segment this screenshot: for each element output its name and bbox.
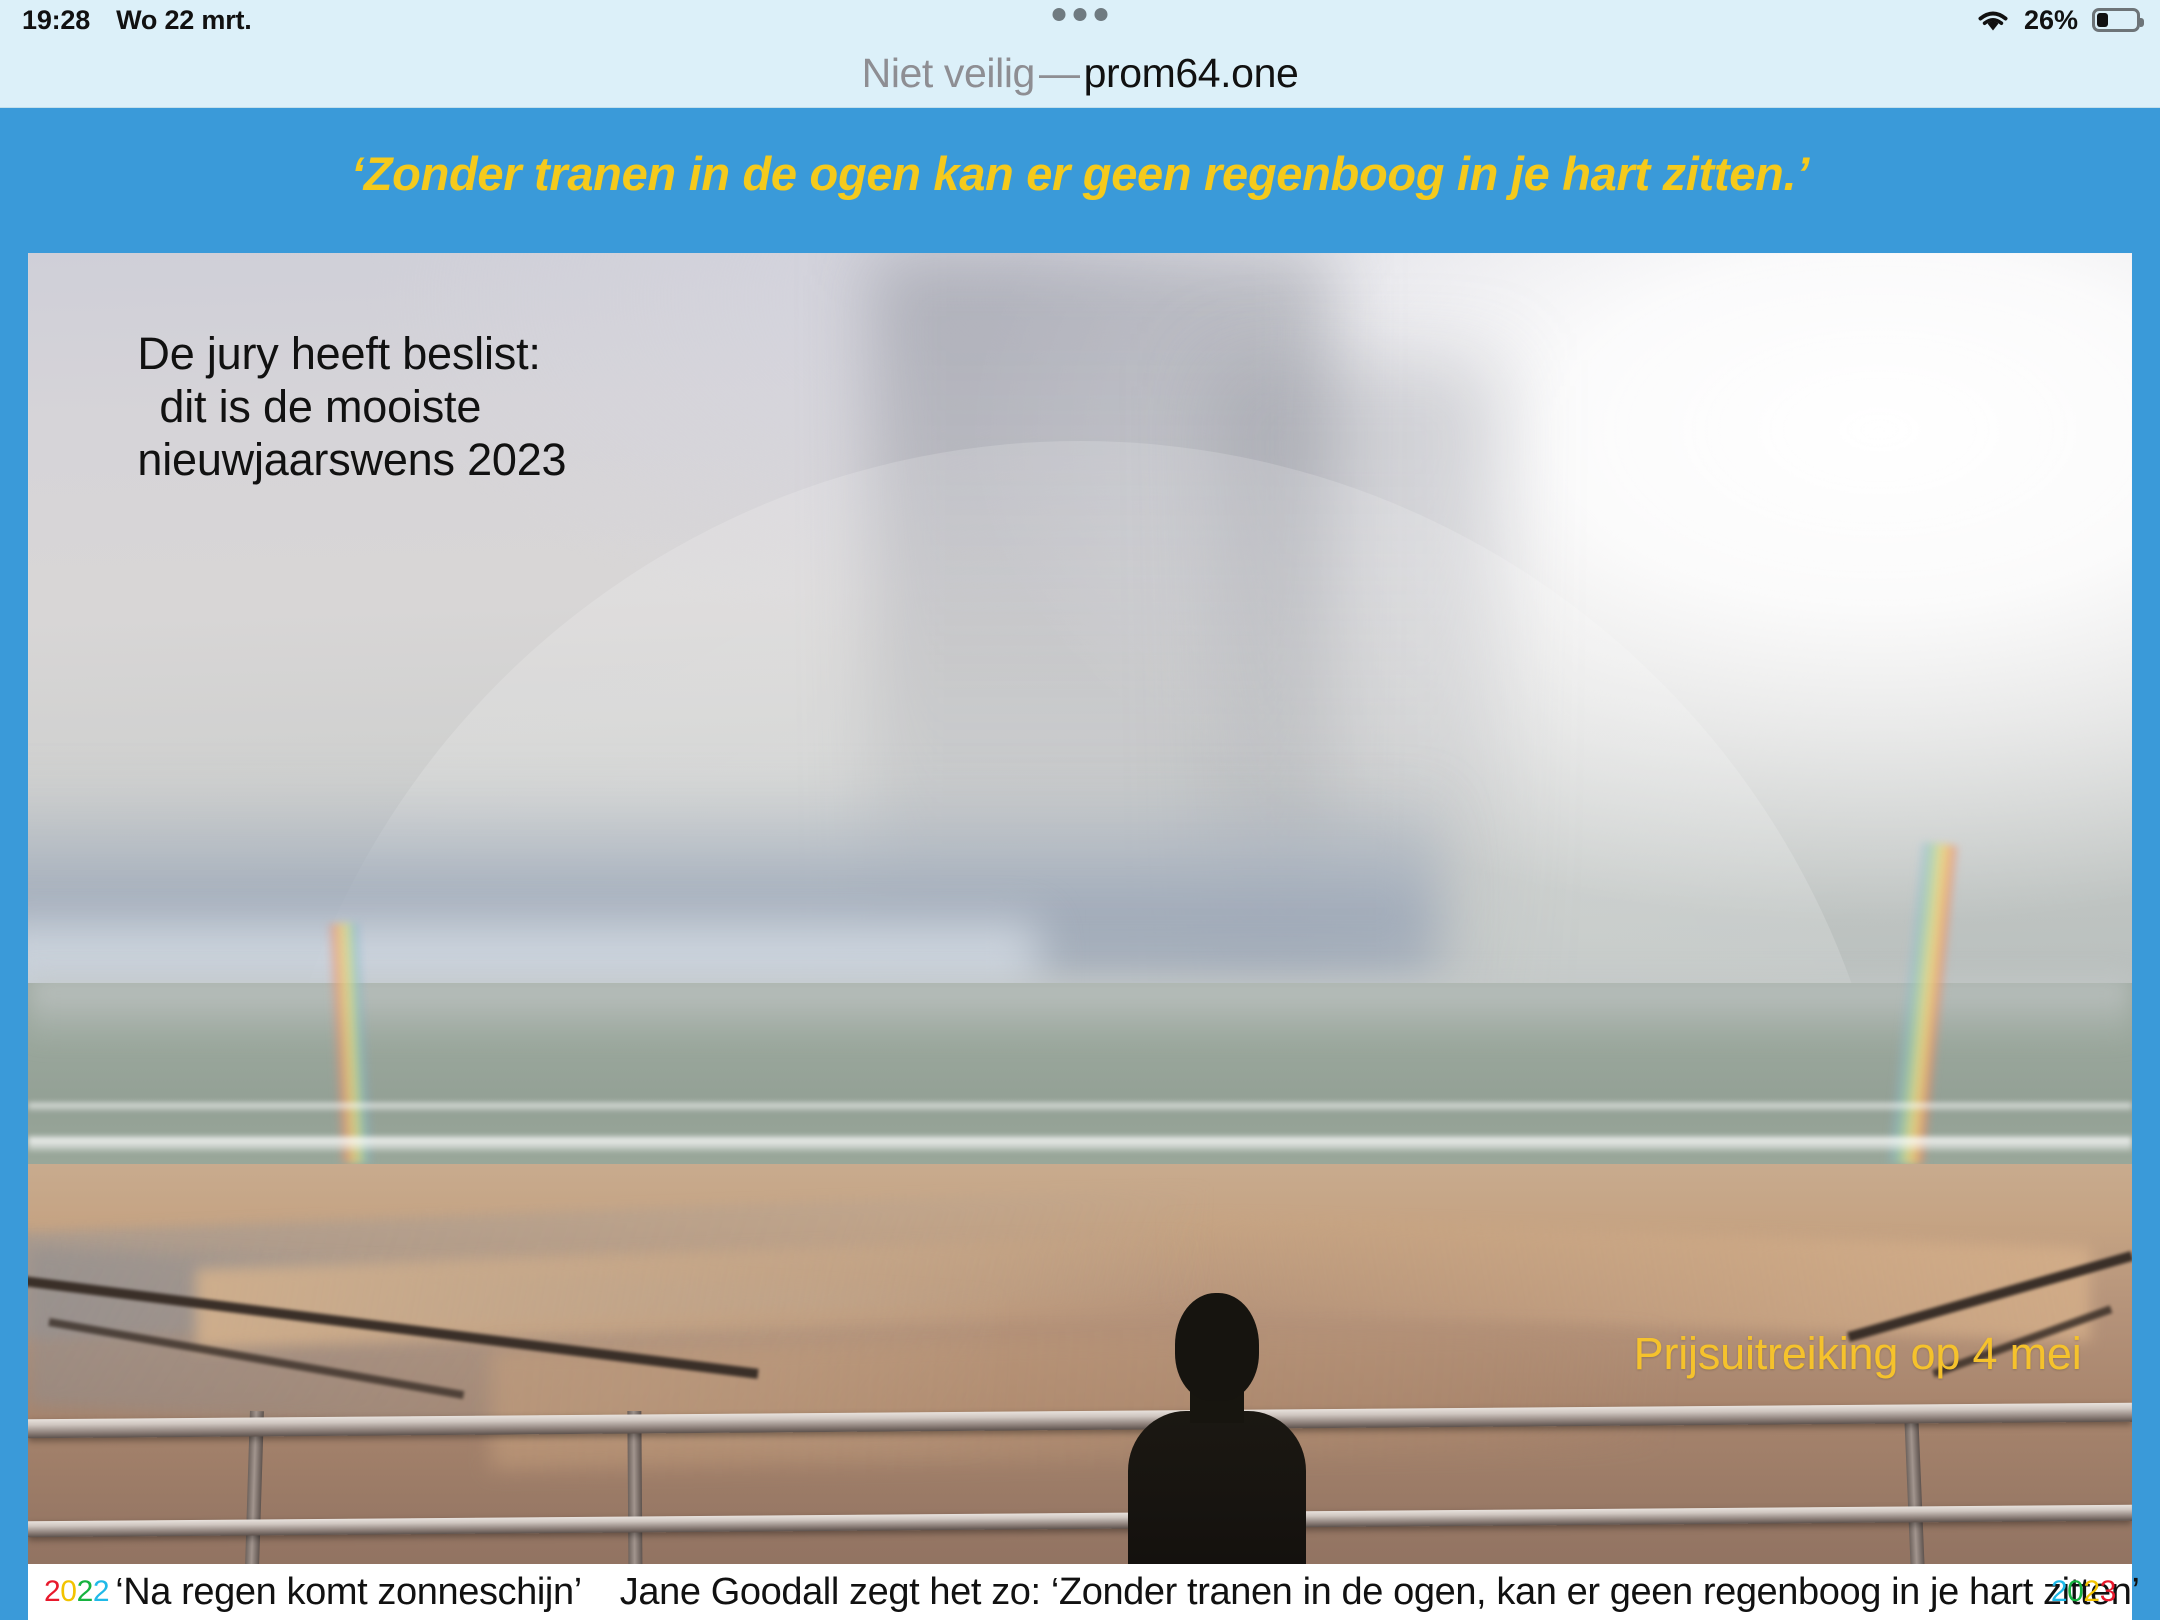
year-right-digit-4: 3	[2100, 1575, 2116, 1608]
address-host: prom64.one	[1084, 50, 1299, 96]
year-right-digit-2: 0	[2067, 1575, 2083, 1608]
status-bar: 19:28 Wo 22 mrt. 26%	[0, 0, 2160, 40]
address-bar-text: Niet veilig—prom64.one	[862, 50, 1299, 97]
jury-line-2: dit is de mooiste	[159, 380, 566, 433]
status-bar-right: 26%	[1976, 0, 2140, 40]
year-right-digit-3: 2	[2083, 1575, 2099, 1608]
address-separator: —	[1035, 50, 1084, 96]
status-time: 19:28	[22, 5, 90, 36]
award-ceremony-note: Prijsuitreiking op 4 mei	[1634, 1328, 2082, 1380]
year-2022-label: 2022	[44, 1575, 109, 1609]
page-headline: ‘Zonder tranen in de ogen kan er geen re…	[0, 108, 2160, 201]
status-date: Wo 22 mrt.	[116, 5, 252, 36]
caption-main-text: Jane Goodall zegt het zo: ‘Zonder tranen…	[620, 1571, 2140, 1614]
jury-verdict-text: De jury heeft beslist: dit is de mooiste…	[137, 327, 566, 486]
photo-card[interactable]: De jury heeft beslist: dit is de mooiste…	[28, 253, 2132, 1593]
caption-bar: 2022 ‘Na regen komt zonneschijn’ Jane Go…	[28, 1564, 2132, 1620]
sand-ridge-3	[491, 1328, 1669, 1469]
rainbow-beach-photo: De jury heeft beslist: dit is de mooiste…	[28, 253, 2132, 1593]
year-left-digit-3: 2	[77, 1575, 93, 1608]
year-left-digit-4: 2	[93, 1575, 109, 1608]
page-content: ‘Zonder tranen in de ogen kan er geen re…	[0, 108, 2160, 1620]
three-dots-icon[interactable]	[1053, 8, 1108, 21]
year-2023-label: 2023	[2051, 1575, 2116, 1609]
statue-silhouette	[1122, 1293, 1312, 1593]
year-left-digit-1: 2	[44, 1575, 60, 1608]
jury-line-1: De jury heeft beslist:	[137, 327, 566, 380]
battery-percent: 26%	[2024, 5, 2078, 36]
surf-line-far	[28, 1103, 2132, 1111]
browser-address-bar[interactable]: Niet veilig—prom64.one	[0, 40, 2160, 108]
year-left-digit-2: 0	[60, 1575, 76, 1608]
surf-line-near	[28, 1137, 2132, 1151]
silhouette-head	[1175, 1293, 1259, 1401]
year-right-digit-1: 2	[2051, 1575, 2067, 1608]
status-bar-left: 19:28 Wo 22 mrt.	[22, 5, 252, 36]
caption-quote-left: ‘Na regen komt zonneschijn’	[115, 1571, 582, 1614]
jury-line-3: nieuwjaarswens 2023	[137, 433, 566, 486]
battery-icon	[2092, 8, 2140, 32]
security-warning-label: Niet veilig	[862, 50, 1035, 96]
wifi-icon	[1976, 7, 2010, 33]
